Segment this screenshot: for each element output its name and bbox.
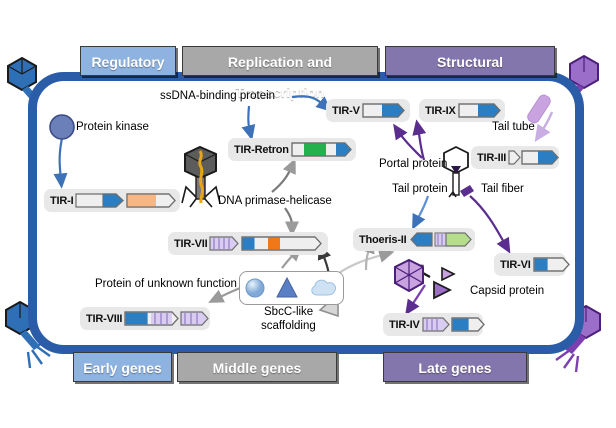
operon-tir-viii[interactable]: TIR-VIII	[80, 307, 210, 330]
label-capsid-protein: Capsid protein	[470, 285, 544, 297]
capsid-protein-triangles-icon	[428, 266, 468, 300]
operon-thoeris-ii[interactable]: Thoeris-II	[353, 228, 475, 251]
operon-tir-ix[interactable]: TIR-IX	[419, 99, 505, 122]
unknown-function-shapes-box	[239, 271, 344, 305]
operon-tir-retron[interactable]: TIR-Retron	[228, 138, 356, 161]
label-sbcc-like: SbcC-like	[264, 306, 313, 318]
label-scaffolding: scaffolding	[261, 320, 316, 332]
operon-tir-iii-genes	[509, 150, 559, 165]
label-portal-protein: Portal protein	[379, 158, 447, 170]
operon-tir-i[interactable]: TIR-I	[44, 189, 180, 212]
operon-tir-ix-label: TIR-IX	[425, 105, 456, 117]
sphere-icon	[244, 276, 268, 300]
operon-tir-iv[interactable]: TIR-IV	[383, 313, 483, 336]
capsid-icon	[391, 258, 431, 298]
operon-tir-v-label: TIR-V	[332, 105, 360, 117]
operon-tir-iii[interactable]: TIR-III	[471, 146, 559, 169]
label-tail-protein: Tail protein	[392, 183, 448, 195]
operon-tir-iii-label: TIR-III	[477, 152, 506, 164]
label-ssdna-binding-protein: ssDNA-binding protein	[160, 90, 275, 102]
operon-thoeris-ii-genes	[410, 232, 472, 247]
operon-tir-retron-genes	[292, 142, 352, 157]
label-protein-unknown-function: Protein of unknown function	[95, 278, 237, 290]
figure-canvas: Regulatory Replication and Transcription…	[0, 0, 616, 428]
operon-tir-vi-label: TIR-VI	[500, 259, 531, 271]
arrow-layer	[0, 0, 616, 428]
operon-tir-iv-genes	[423, 317, 485, 332]
label-protein-kinase: Protein kinase	[76, 121, 149, 133]
operon-tir-iv-label: TIR-IV	[389, 319, 420, 331]
cloud-icon	[309, 276, 339, 300]
operon-tir-viii-label: TIR-VIII	[86, 313, 122, 325]
operon-tir-retron-label: TIR-Retron	[234, 144, 289, 156]
operon-tir-vii-label: TIR-VII	[174, 238, 207, 250]
operon-tir-vi[interactable]: TIR-VI	[494, 253, 566, 276]
label-tail-fiber: Tail fiber	[481, 183, 524, 195]
operon-thoeris-ii-label: Thoeris-II	[359, 234, 407, 246]
operon-tir-ix-genes	[459, 103, 501, 118]
operon-tir-viii-genes	[125, 311, 209, 326]
protein-kinase-icon	[48, 113, 78, 143]
triangle-icon	[276, 276, 300, 300]
operon-tir-v[interactable]: TIR-V	[326, 99, 410, 122]
operon-tir-vii[interactable]: TIR-VII	[168, 232, 328, 255]
operon-tir-i-genes	[76, 193, 176, 208]
operon-tir-vii-genes	[210, 236, 322, 251]
label-tail-tube: Tail tube	[492, 121, 535, 133]
operon-tir-v-genes	[363, 103, 405, 118]
operon-tir-i-label: TIR-I	[50, 195, 73, 207]
operon-tir-vi-genes	[534, 257, 570, 272]
label-dna-primase-helicase: DNA primase-helicase	[218, 195, 332, 207]
